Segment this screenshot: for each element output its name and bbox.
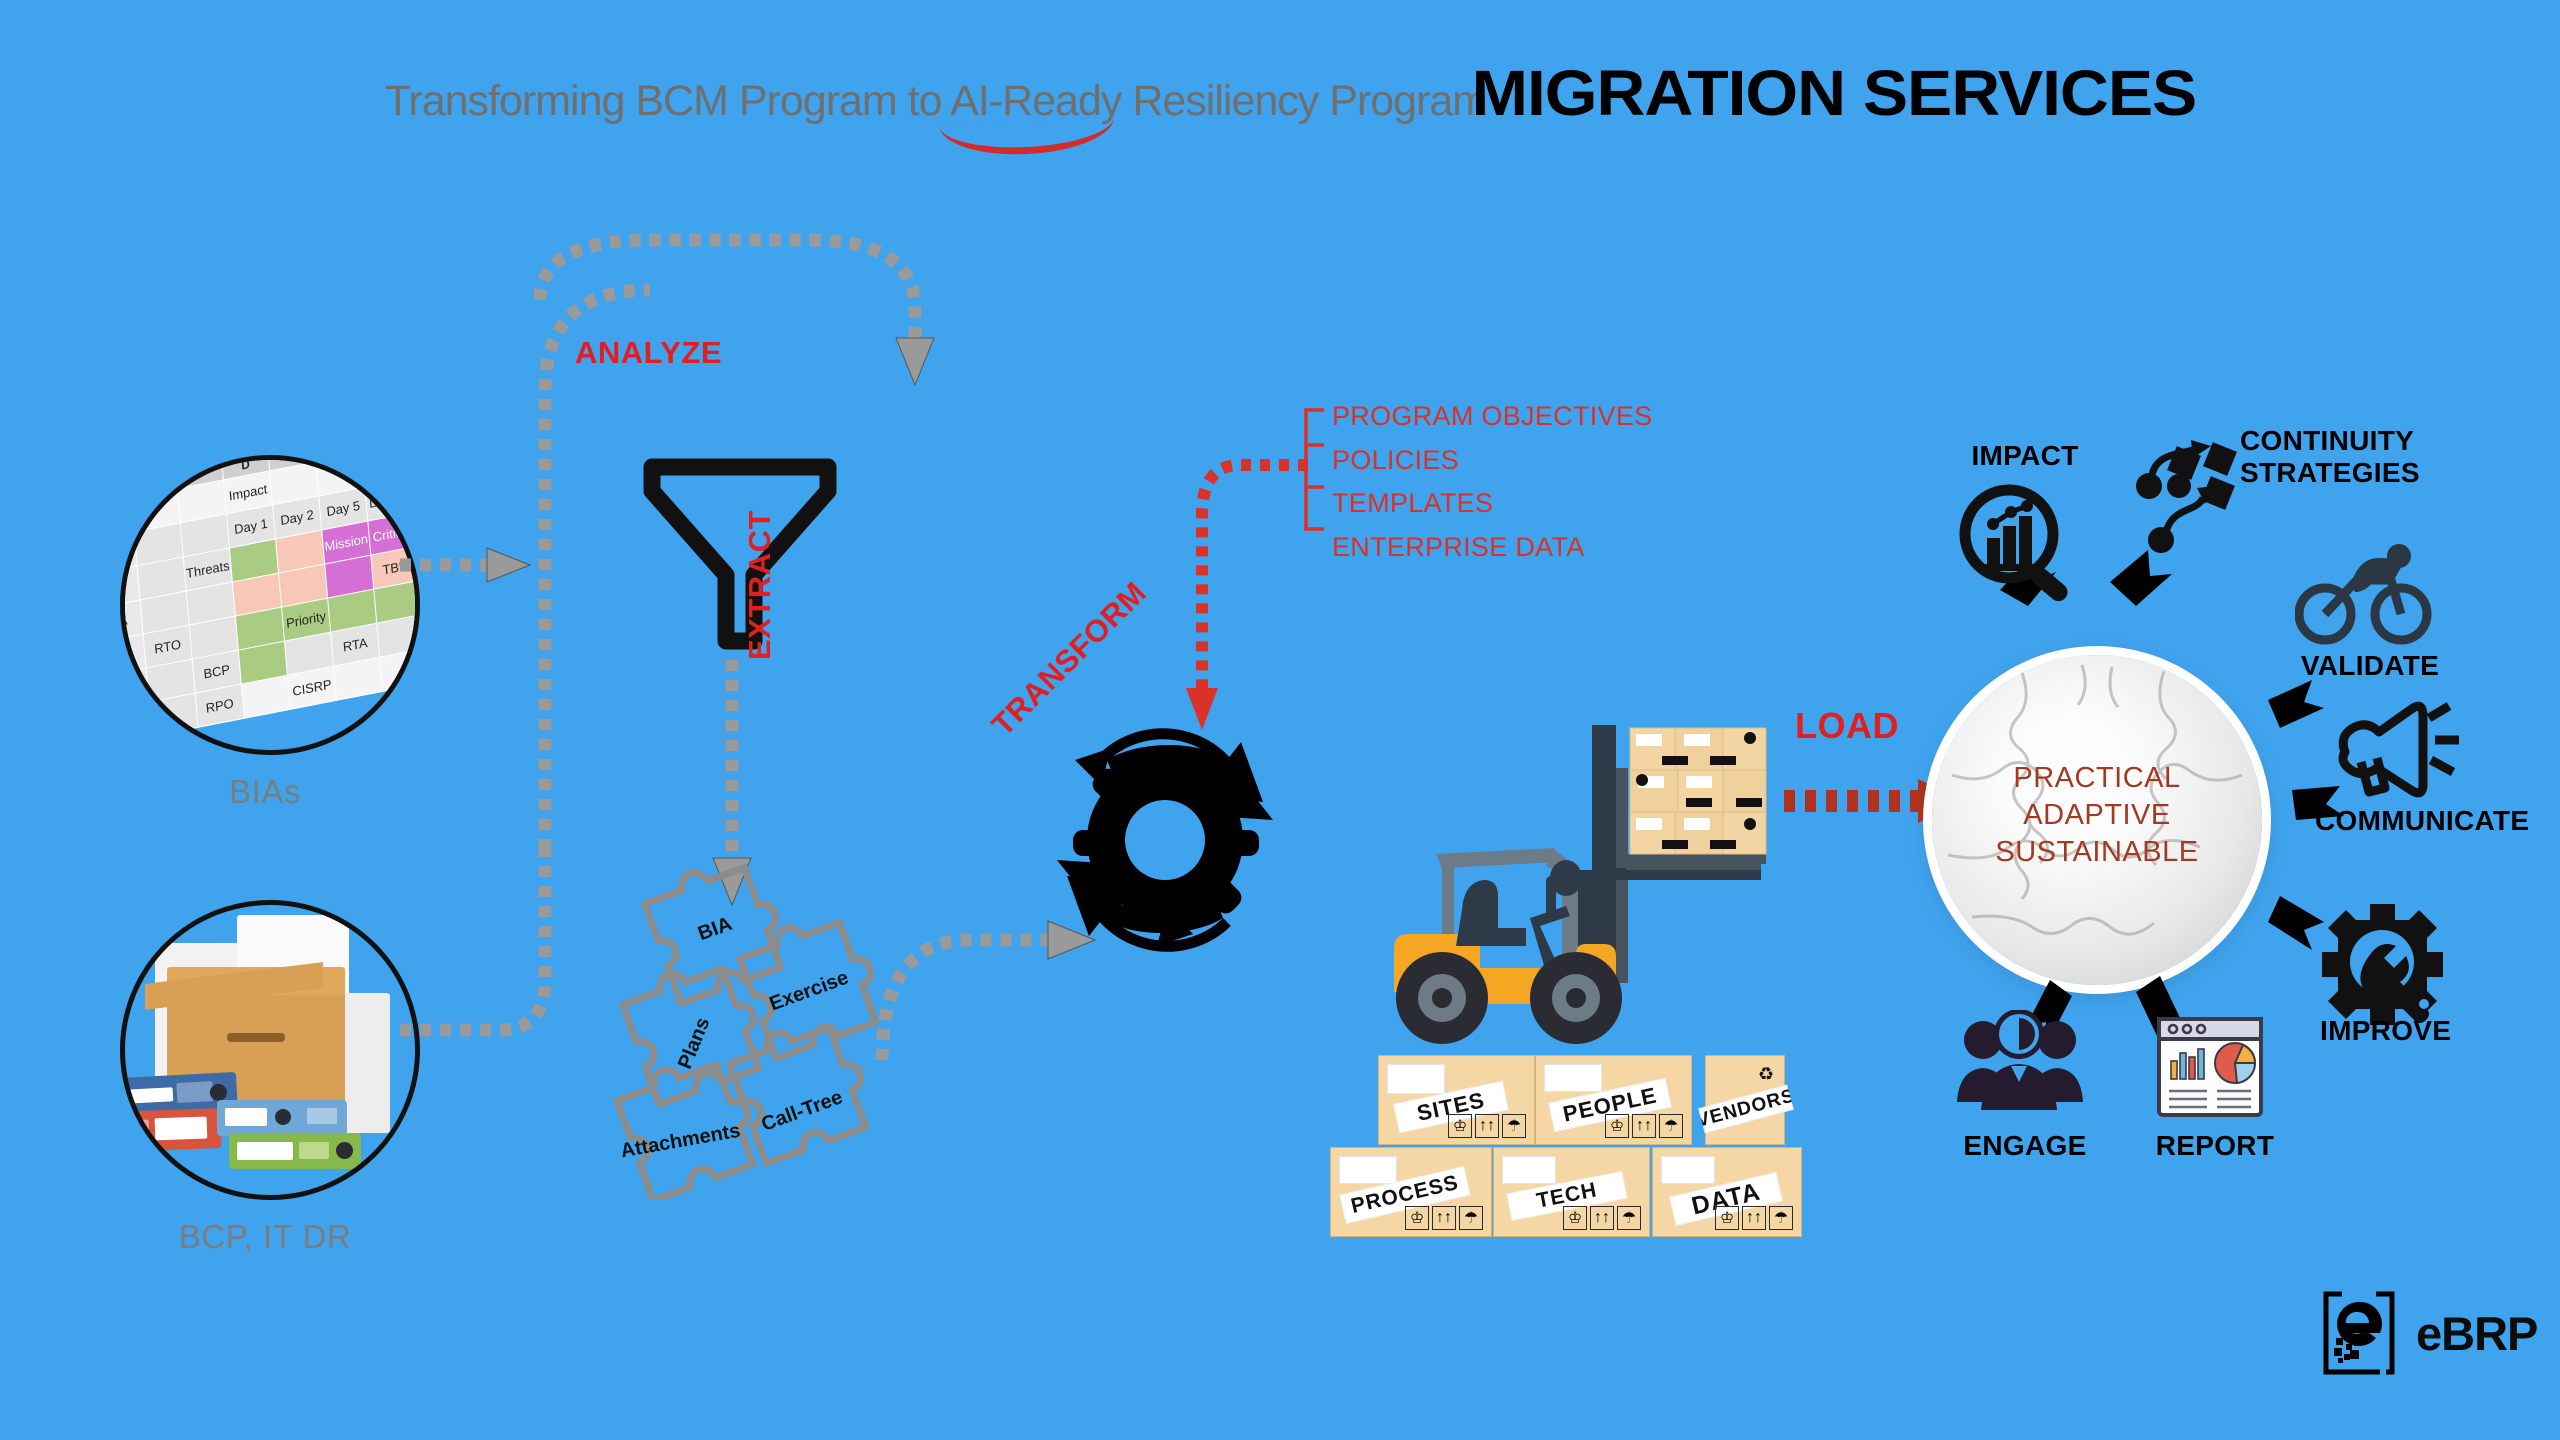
forklift-icon bbox=[1380, 720, 1780, 1060]
cargo-box-tech: TECH ♔ ↑↑ ☂ bbox=[1493, 1147, 1650, 1237]
ebrp-e-icon bbox=[2320, 1290, 2400, 1376]
page-title: MIGRATION SERVICES bbox=[1471, 56, 2196, 130]
strategy-network-icon bbox=[2135, 440, 2245, 570]
cargo-box-sites: SITES ♔ ↑↑ ☂ bbox=[1378, 1055, 1535, 1145]
this-side-up-icon: ↑↑ bbox=[1475, 1114, 1499, 1138]
fragile-icon: ♔ bbox=[1405, 1206, 1429, 1230]
cargo-label-vendors: VENDORS bbox=[1698, 1085, 1794, 1134]
transform-input-program-objectives: PROGRAM OBJECTIVES bbox=[1332, 395, 1652, 439]
stage-label-extract: EXTRACT bbox=[742, 480, 778, 660]
funnel-icon bbox=[640, 455, 840, 655]
people-group-icon bbox=[1955, 1010, 2085, 1125]
transform-input-templates: TEMPLATES bbox=[1332, 482, 1652, 526]
keep-dry-icon: ☂ bbox=[1617, 1206, 1641, 1230]
outcome-label-engage: ENGAGE bbox=[1940, 1130, 2110, 1162]
this-side-up-icon: ↑↑ bbox=[1632, 1114, 1656, 1138]
brand-logo: eBRP bbox=[2320, 1290, 2537, 1376]
cargo-boxes-group: SITES ♔ ↑↑ ☂ PEOPLE ♔ ↑↑ ☂ ♻ VENDORS PRO… bbox=[1330, 1055, 1810, 1305]
outcome-label-validate: VALIDATE bbox=[2290, 650, 2450, 682]
this-side-up-icon: ↑↑ bbox=[1590, 1206, 1614, 1230]
megaphone-icon bbox=[2325, 700, 2460, 810]
transform-input-enterprise-data: ENTERPRISE DATA bbox=[1332, 526, 1652, 570]
fragile-icon: ♔ bbox=[1563, 1206, 1587, 1230]
recycle-icon: ♻ bbox=[1758, 1064, 1774, 1085]
fragile-icon: ♔ bbox=[1605, 1114, 1629, 1138]
cargo-box-process: PROCESS ♔ ↑↑ ☂ bbox=[1330, 1147, 1492, 1237]
transform-inputs-arrow bbox=[1180, 440, 1360, 760]
this-side-up-icon: ↑↑ bbox=[1742, 1206, 1766, 1230]
this-side-up-icon: ↑↑ bbox=[1432, 1206, 1456, 1230]
keep-dry-icon: ☂ bbox=[1459, 1206, 1483, 1230]
transform-input-policies: POLICIES bbox=[1332, 439, 1652, 483]
keep-dry-icon: ☂ bbox=[1502, 1114, 1526, 1138]
cargo-box-people: PEOPLE ♔ ↑↑ ☂ bbox=[1535, 1055, 1692, 1145]
keep-dry-icon: ☂ bbox=[1659, 1114, 1683, 1138]
infographic-canvas: Transforming BCM Program to AI-Ready Res… bbox=[0, 0, 2560, 1440]
fragile-icon: ♔ bbox=[1448, 1114, 1472, 1138]
gear-wrench-icon bbox=[2320, 900, 2445, 1025]
magnifier-chart-icon bbox=[1955, 480, 2085, 610]
outcome-label-report: REPORT bbox=[2130, 1130, 2300, 1162]
brand-name: eBRP bbox=[2416, 1306, 2537, 1361]
keep-dry-icon: ☂ bbox=[1769, 1206, 1793, 1230]
outcome-label-improve: IMPROVE bbox=[2320, 1015, 2500, 1047]
cargo-box-vendors: ♻ VENDORS bbox=[1705, 1055, 1785, 1145]
cargo-box-data: DATA ♔ ↑↑ ☂ bbox=[1652, 1147, 1802, 1237]
outcome-label-continuity-strategies: CONTINUITY STRATEGIES bbox=[2240, 425, 2500, 489]
header: Transforming BCM Program to AI-Ready Res… bbox=[0, 50, 2560, 130]
outcome-label-impact: IMPACT bbox=[1955, 440, 2095, 472]
subtitle: Transforming BCM Program to AI-Ready Res… bbox=[385, 77, 1487, 126]
stage-label-analyze: ANALYZE bbox=[575, 335, 722, 371]
subtitle-text: Transforming BCM Program to AI-Ready Res… bbox=[385, 77, 1487, 125]
dashboard-report-icon bbox=[2155, 1015, 2265, 1125]
outcome-label-communicate: COMMUNICATE bbox=[2315, 805, 2555, 837]
fragile-icon: ♔ bbox=[1715, 1206, 1739, 1230]
cyclist-icon bbox=[2295, 540, 2435, 650]
